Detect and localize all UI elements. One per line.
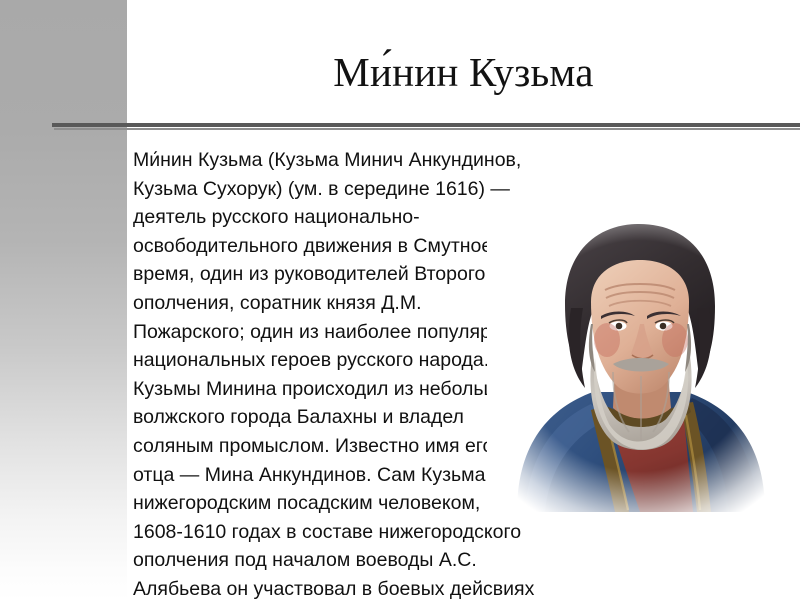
body-paragraph: Ми́нин Кузьма (Кузьма Минич Анкундинов, … — [133, 146, 535, 600]
slide-canvas: Ми́нин Кузьма Ми́нин Кузьма (Кузьма Мини… — [0, 0, 800, 600]
title-divider — [52, 123, 800, 129]
kuzma-minin-portrait — [487, 212, 792, 512]
title-divider-shadow — [54, 128, 800, 130]
decorative-gradient-band — [0, 0, 127, 600]
title-area: Ми́нин Кузьма — [127, 48, 800, 120]
title-divider-bar — [52, 123, 800, 127]
portrait-illustration — [487, 212, 792, 512]
page-title: Ми́нин Кузьма — [127, 48, 800, 97]
